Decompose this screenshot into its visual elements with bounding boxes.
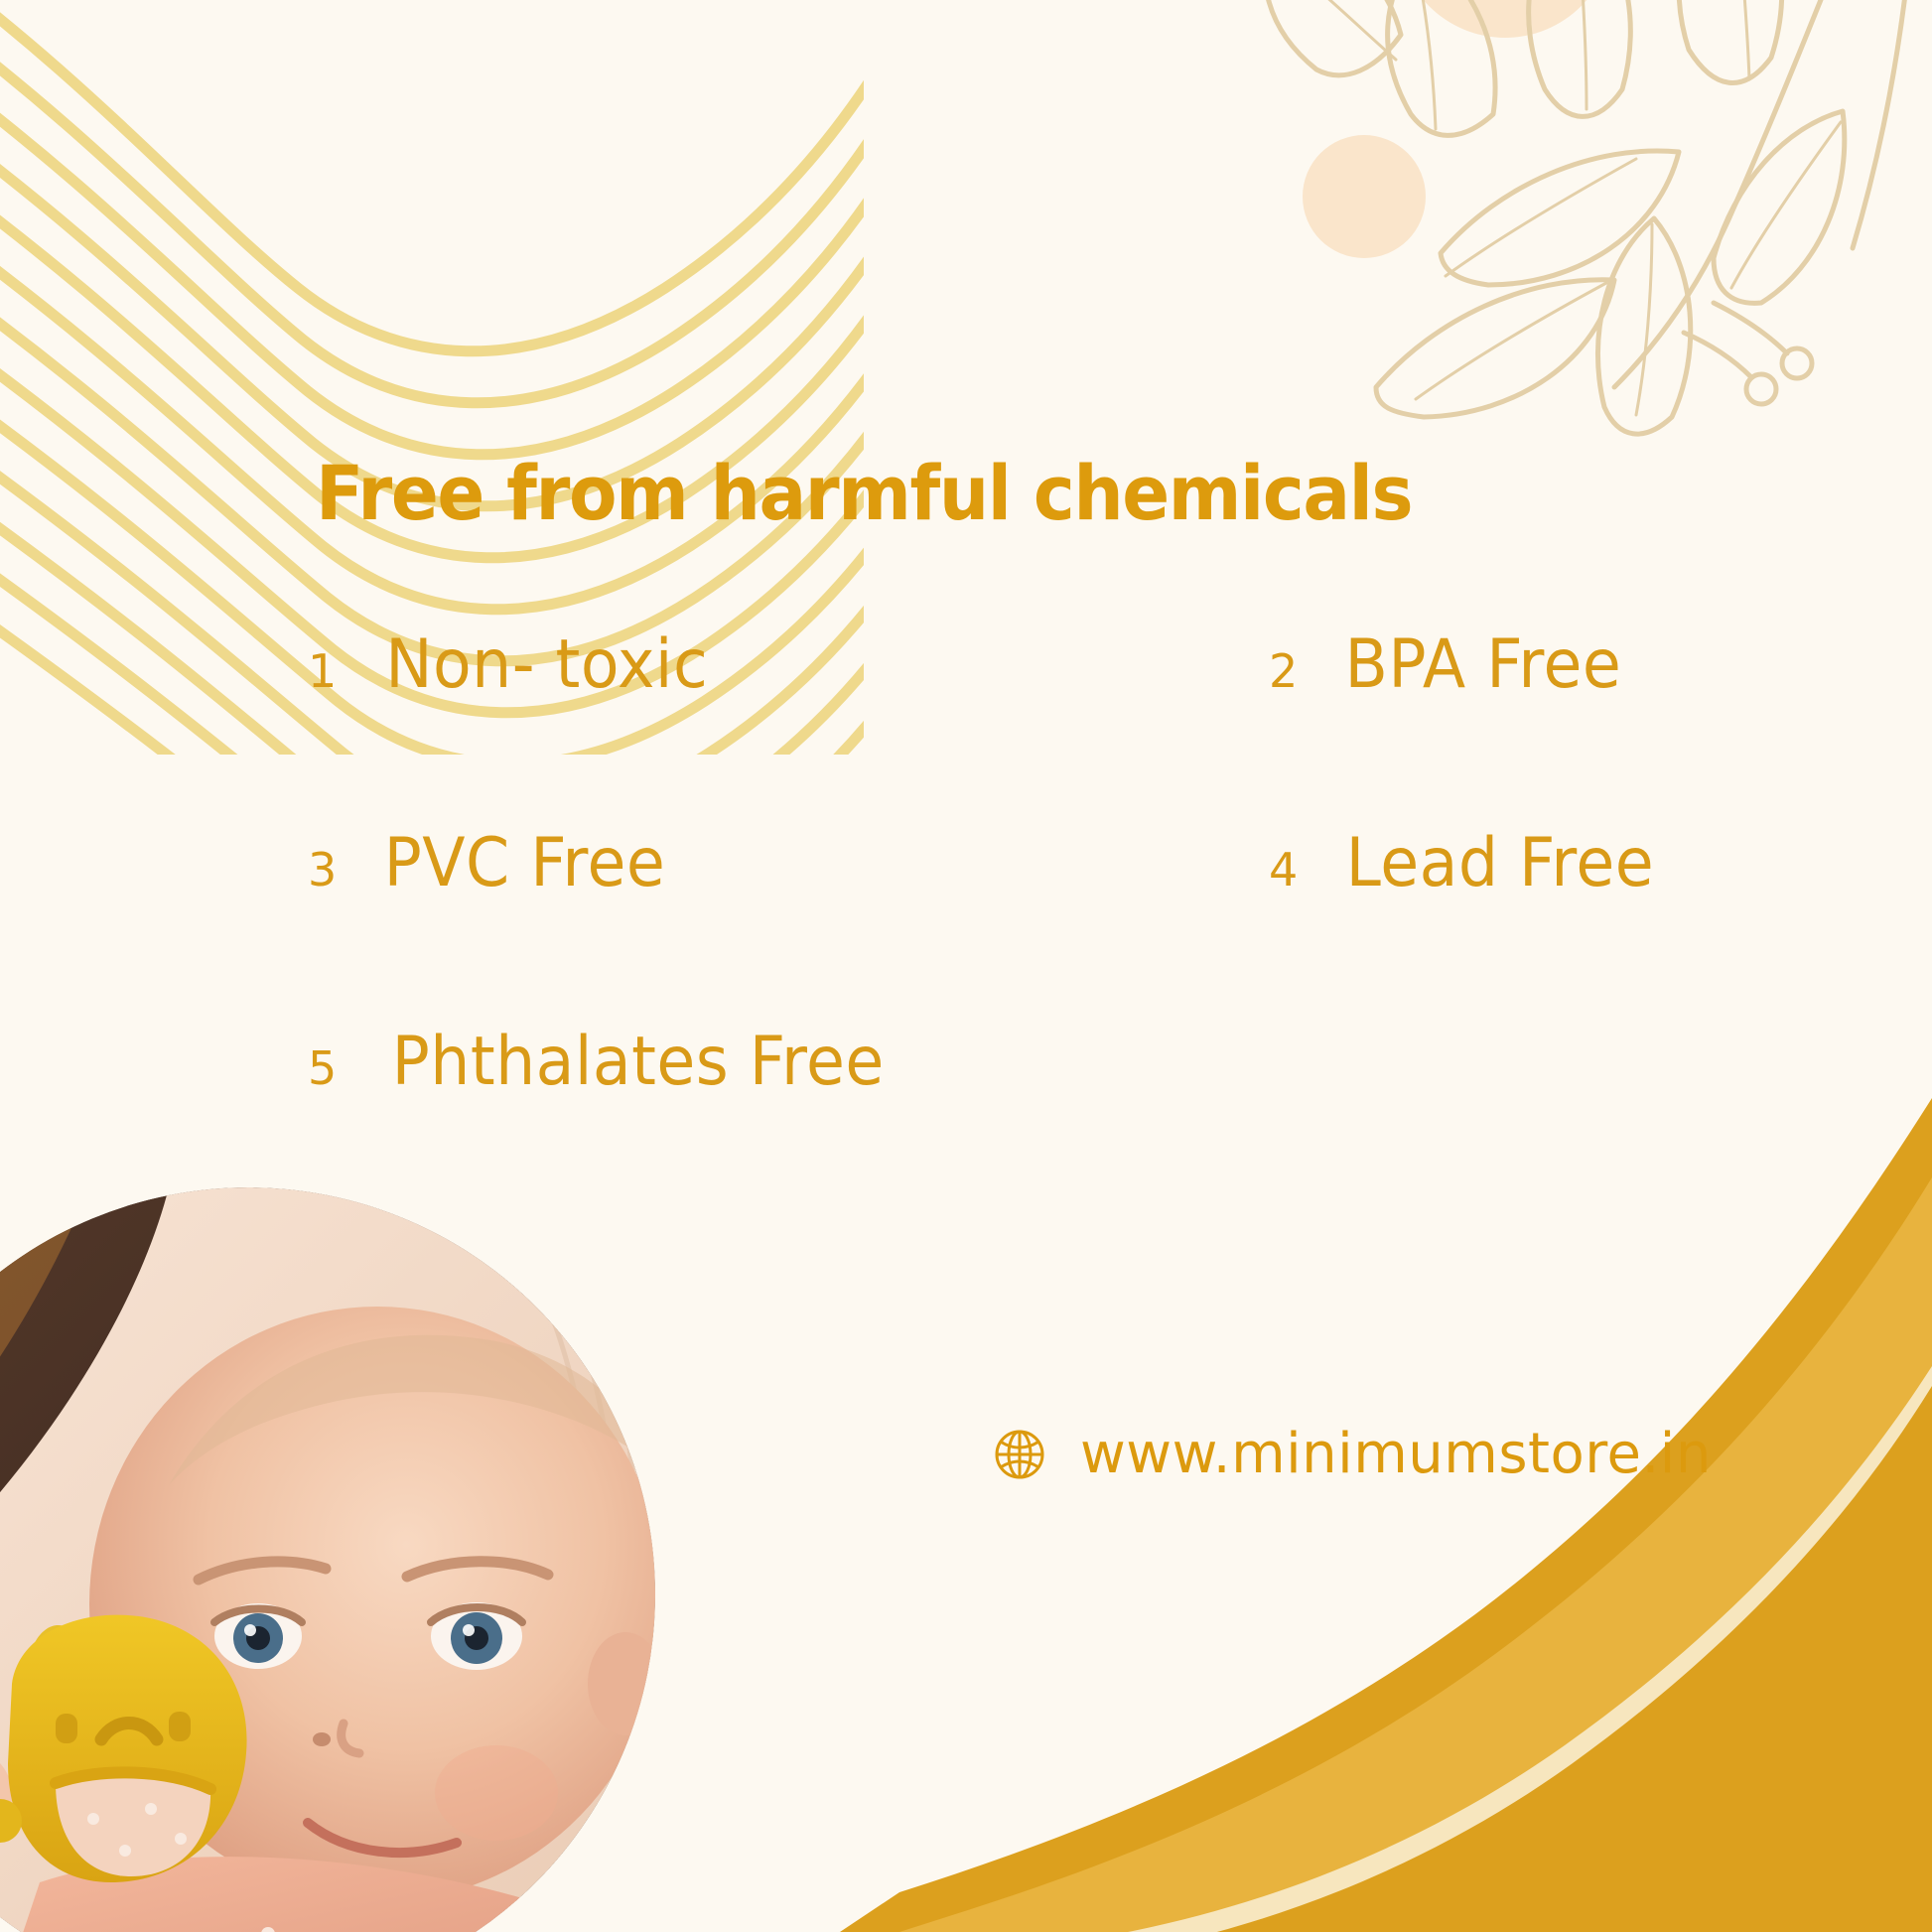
promotional-poster: Free from harmful chemicals 1 Non- toxic… (0, 0, 1932, 1932)
feature-label: PVC Free (384, 824, 666, 902)
feature-row: 1 Non- toxic 2 BPA Free (308, 625, 1618, 824)
feature-row: 5 Phthalates Free (308, 1023, 1618, 1221)
feature-item-phthalates-free: 5 Phthalates Free (308, 1023, 963, 1101)
feature-label: Non- toxic (385, 625, 708, 704)
feature-item-lead-free: 4 Lead Free (963, 824, 1618, 902)
feature-item-bpa-free: 2 BPA Free (963, 625, 1618, 704)
feature-item-non-toxic: 1 Non- toxic (308, 625, 963, 704)
feature-label: Lead Free (1346, 824, 1654, 902)
feature-label: Phthalates Free (392, 1023, 885, 1101)
feature-number: 2 (1269, 644, 1314, 698)
feature-number: 3 (308, 843, 353, 897)
page-title: Free from harmful chemicals (316, 449, 1412, 537)
feature-list: 1 Non- toxic 2 BPA Free 3 PVC Free 4 Lea… (308, 625, 1618, 1221)
globe-icon (993, 1428, 1046, 1481)
feature-item-pvc-free: 3 PVC Free (308, 824, 963, 902)
website-row[interactable]: www.minimumstore.in (993, 1422, 1712, 1486)
feature-label: BPA Free (1344, 625, 1621, 704)
feature-row: 3 PVC Free 4 Lead Free (308, 824, 1618, 1023)
feature-number: 5 (308, 1041, 353, 1095)
website-url[interactable]: www.minimumstore.in (1080, 1422, 1712, 1486)
feature-number: 4 (1269, 843, 1314, 897)
feature-number: 1 (308, 644, 353, 698)
